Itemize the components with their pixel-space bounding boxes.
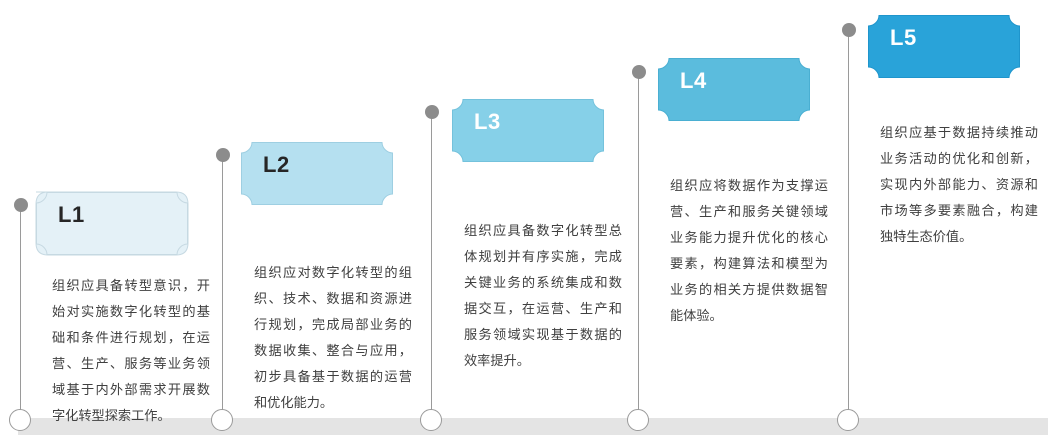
timeline-column-l1: L1 组织应具备转型意识，开始对实施数字化转型的基础和条件进行规划，在运营、生产… <box>0 0 210 439</box>
timeline-stem-l4 <box>638 72 639 415</box>
timeline-endpoint-circle-l2 <box>211 409 233 431</box>
timeline-column-l5: L5 组织应基于数据持续推动业务活动的优化和创新，实现内外部能力、资源和市场等多… <box>828 0 1056 439</box>
timeline-diagram: L1 组织应具备转型意识，开始对实施数字化转型的基础和条件进行规划，在运营、生产… <box>0 0 1056 439</box>
level-banner-l3[interactable]: L3 <box>452 99 604 162</box>
level-banner-l4[interactable]: L4 <box>658 58 810 121</box>
timeline-column-l3: L3 组织应具备数字化转型总体规划并有序实施，完成关键业务的系统集成和数据交互，… <box>412 0 627 439</box>
timeline-dot-l2 <box>216 148 230 162</box>
timeline-endpoint-circle-l3 <box>420 409 442 431</box>
level-banner-l2[interactable]: L2 <box>241 142 393 205</box>
level-description-l3: 组织应具备数字化转型总体规划并有序实施，完成关键业务的系统集成和数据交互，在运营… <box>464 218 622 374</box>
timeline-dot-l1 <box>14 198 28 212</box>
level-description-l1: 组织应具备转型意识，开始对实施数字化转型的基础和条件进行规划，在运营、生产、服务… <box>52 273 210 429</box>
timeline-stem-l1 <box>20 205 21 415</box>
timeline-endpoint-circle-l5 <box>837 409 859 431</box>
timeline-dot-l3 <box>425 105 439 119</box>
timeline-stem-l2 <box>222 155 223 415</box>
timeline-dot-l4 <box>632 65 646 79</box>
timeline-endpoint-circle-l1 <box>9 409 31 431</box>
timeline-dot-l5 <box>842 23 856 37</box>
level-description-l2: 组织应对数字化转型的组织、技术、数据和资源进行规划，完成局部业务的数据收集、整合… <box>254 260 412 416</box>
level-description-l4: 组织应将数据作为支撑运营、生产和服务关键领域业务能力提升优化的核心要素，构建算法… <box>670 173 828 329</box>
level-banner-l1[interactable]: L1 <box>36 192 188 255</box>
timeline-stem-l3 <box>431 112 432 415</box>
timeline-stem-l5 <box>848 30 849 415</box>
timeline-endpoint-circle-l4 <box>627 409 649 431</box>
level-banner-l5[interactable]: L5 <box>868 15 1020 78</box>
timeline-column-l2: L2 组织应对数字化转型的组织、技术、数据和资源进行规划，完成局部业务的数据收集… <box>205 0 415 439</box>
timeline-column-l4: L4 组织应将数据作为支撑运营、生产和服务关键领域业务能力提升优化的核心要素，构… <box>620 0 835 439</box>
level-description-l5: 组织应基于数据持续推动业务活动的优化和创新，实现内外部能力、资源和市场等多要素融… <box>880 120 1038 250</box>
